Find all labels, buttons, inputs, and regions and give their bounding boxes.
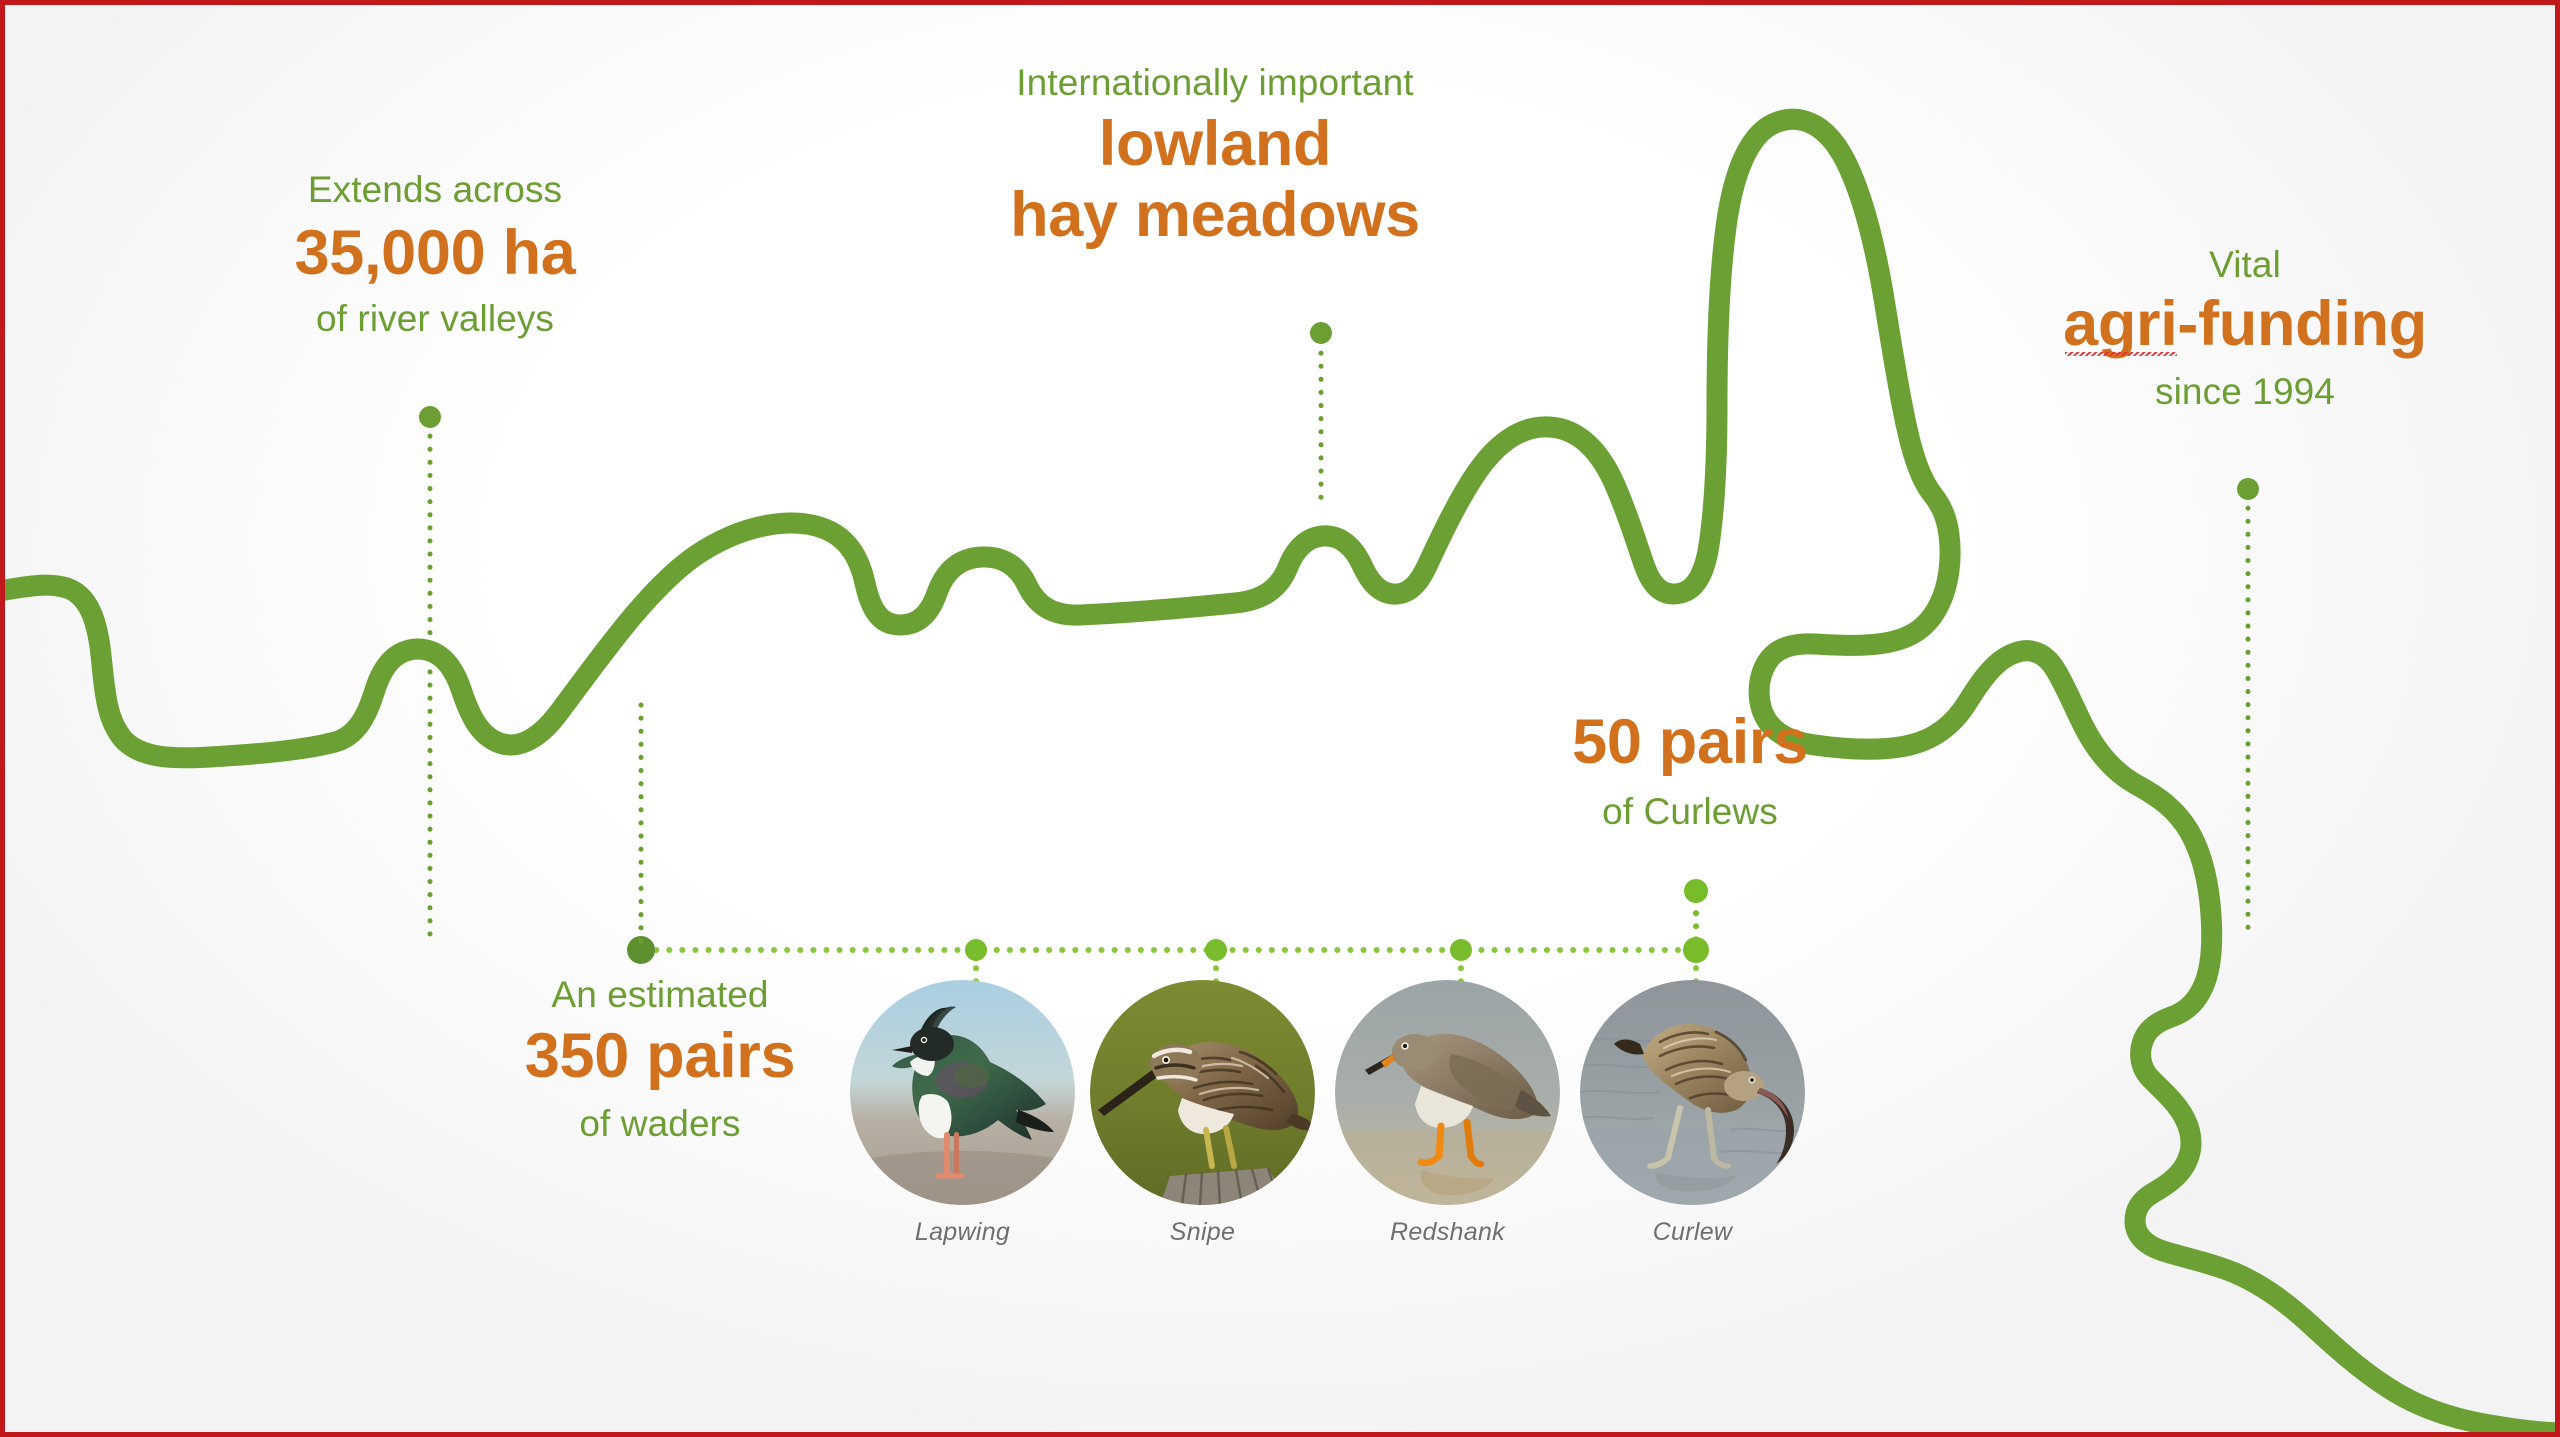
leader-funding-dot <box>2237 478 2259 500</box>
bird-caption-redshank: Redshank <box>1335 1218 1560 1247</box>
bird-card-lapwing: Lapwing <box>850 980 1075 1247</box>
bird-photo-curlew <box>1580 980 1805 1205</box>
callout-extends-across: Extends across 35,000 ha of river valley… <box>185 170 685 338</box>
callout-funding-line3: since 1994 <box>1950 372 2540 412</box>
slide-canvas: Extends across 35,000 ha of river valley… <box>0 0 2560 1437</box>
bird-caption-curlew: Curlew <box>1580 1218 1805 1247</box>
leader-extends-dot <box>419 406 441 428</box>
callout-waders: An estimated 350 pairs of waders <box>425 975 895 1143</box>
snipe-illustration <box>1090 980 1315 1205</box>
callout-waders-value: 350 pairs <box>425 1021 895 1092</box>
callout-meadows-value: lowland hay meadows <box>835 109 1595 250</box>
waders-bus-origin-dot <box>627 936 655 964</box>
bird-card-redshank: Redshank <box>1335 980 1560 1247</box>
redshank-illustration <box>1335 980 1560 1205</box>
leader-meadows-dot <box>1310 322 1332 344</box>
callout-meadows-value-line1: lowland <box>835 109 1595 180</box>
callout-funding-value: agri-funding <box>1950 289 2540 360</box>
callout-waders-line1: An estimated <box>425 975 895 1015</box>
leader-bird-2-dot <box>1450 939 1472 961</box>
bird-photo-redshank <box>1335 980 1560 1205</box>
bird-caption-lapwing: Lapwing <box>850 1218 1075 1247</box>
curlew-illustration <box>1580 980 1805 1205</box>
callout-agri-funding: Vital agri-funding since 1994 <box>1950 245 2540 411</box>
callout-curlews-value: 50 pairs <box>1425 707 1955 778</box>
callout-extends-value: 35,000 ha <box>185 218 685 289</box>
bird-photo-lapwing <box>850 980 1075 1205</box>
callout-hay-meadows: Internationally important lowland hay me… <box>835 63 1595 250</box>
leader-curlews-dot <box>1684 879 1708 903</box>
callout-funding-line1: Vital <box>1950 245 2540 285</box>
bird-photo-snipe <box>1090 980 1315 1205</box>
bird-card-snipe: Snipe <box>1090 980 1315 1247</box>
callout-waders-line3: of waders <box>425 1104 895 1144</box>
callout-meadows-value-line2: hay meadows <box>835 180 1595 251</box>
callout-meadows-line1: Internationally important <box>835 63 1595 103</box>
leader-bird-0-dot <box>965 939 987 961</box>
bird-caption-snipe: Snipe <box>1090 1218 1315 1247</box>
spellcheck-underline-agri: agri <box>2063 289 2177 360</box>
callout-funding-value-suffix: -funding <box>2177 289 2426 359</box>
wader-species-gallery: Lapwing <box>850 980 1810 1220</box>
callout-extends-line1: Extends across <box>185 170 685 210</box>
callout-curlews: 50 pairs of Curlews <box>1425 707 1955 832</box>
callout-curlews-line2: of Curlews <box>1425 792 1955 832</box>
leader-bird-1-dot <box>1205 939 1227 961</box>
lapwing-illustration <box>850 980 1075 1205</box>
leader-bird-3-junction-dot <box>1683 937 1709 963</box>
bird-card-curlew: Curlew <box>1580 980 1805 1247</box>
callout-extends-line3: of river valleys <box>185 299 685 339</box>
